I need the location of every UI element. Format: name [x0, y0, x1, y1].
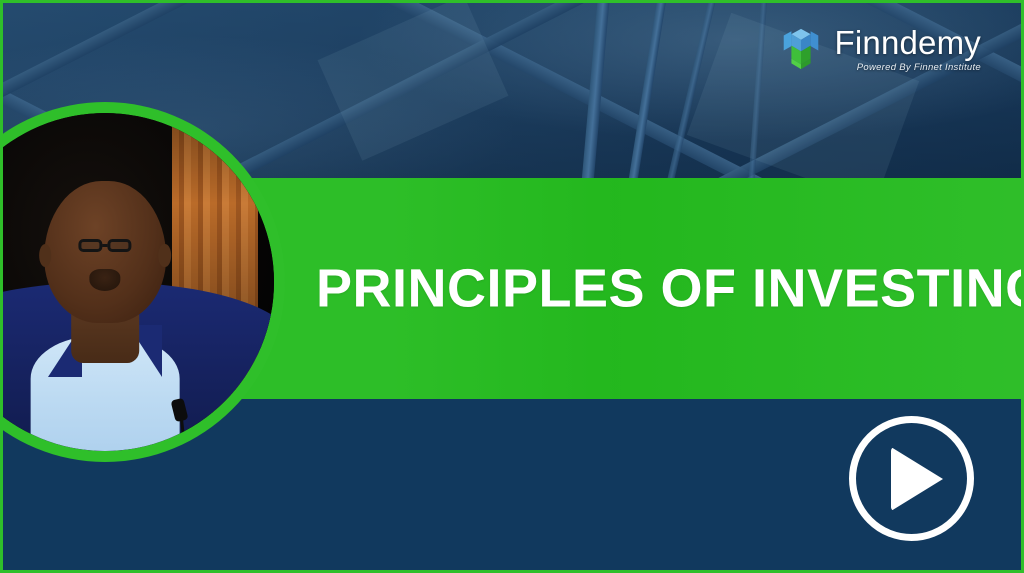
portrait-beard: [89, 269, 121, 292]
glasses-lens-left: [78, 239, 102, 252]
portrait-ear-left: [39, 244, 51, 267]
video-thumbnail-card[interactable]: Finndemy Powered By Finnet Institute PRI…: [0, 0, 1024, 573]
portrait-ear-right: [159, 244, 171, 267]
brand-text-block: Finndemy Powered By Finnet Institute: [835, 26, 982, 73]
brand-tagline: Powered By Finnet Institute: [857, 63, 981, 73]
portrait-head: [44, 181, 166, 323]
finndemy-cube-logo-icon: [777, 25, 825, 73]
brand-logo: Finndemy Powered By Finnet Institute: [777, 25, 982, 73]
play-button[interactable]: [849, 416, 974, 541]
play-icon: [891, 447, 943, 511]
glasses-lens-right: [108, 239, 132, 252]
speaker-photo: [0, 113, 274, 451]
glasses-icon: [78, 239, 132, 252]
page-title: PRINCIPLES OF INVESTING: [316, 260, 1024, 317]
speaker-avatar: [0, 102, 285, 462]
brand-name: Finndemy: [835, 26, 982, 59]
